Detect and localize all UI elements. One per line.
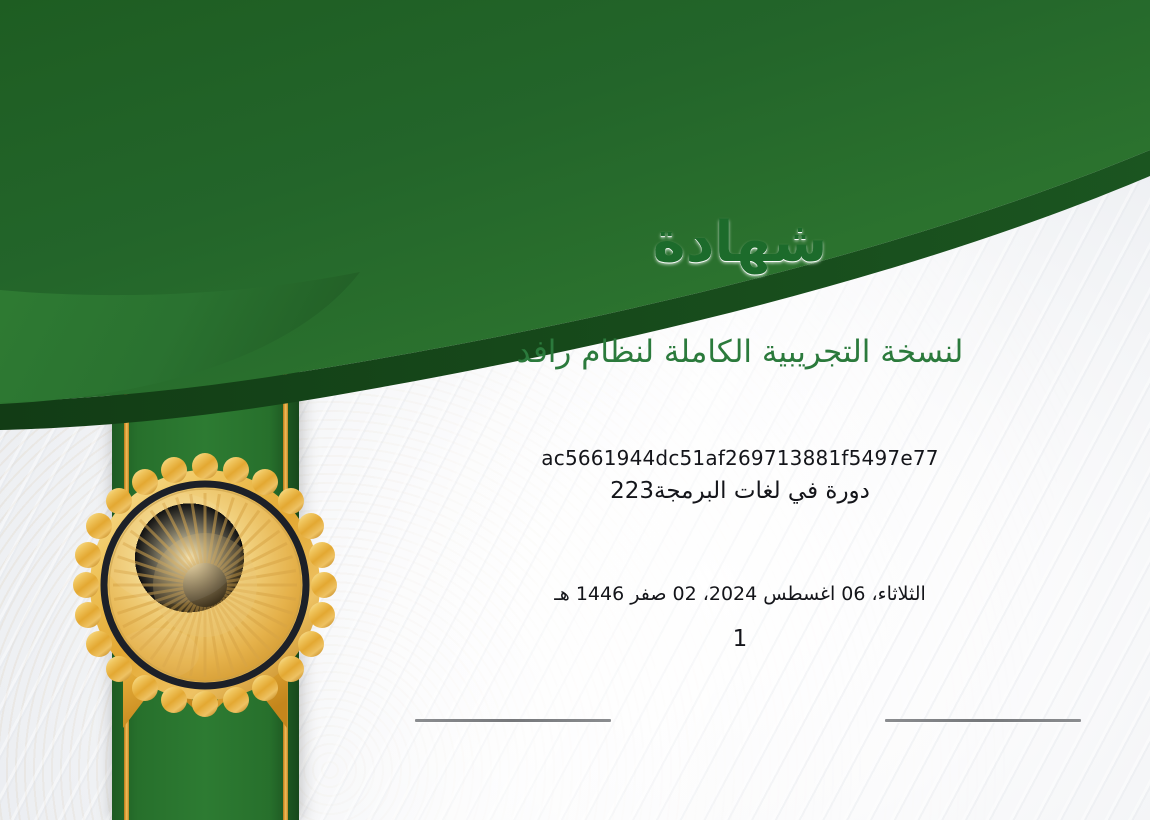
certificate-number: 1 bbox=[330, 626, 1150, 652]
certificate-hash: ac5661944dc51af269713881f5497e77 bbox=[330, 446, 1150, 470]
certificate-page: شهادة لنسخة التجريبية الكاملة لنظام رافد… bbox=[0, 0, 1150, 820]
certificate-subtitle: لنسخة التجريبية الكاملة لنظام رافد bbox=[330, 332, 1150, 372]
course-name: دورة في لغات البرمجة223 bbox=[330, 478, 1150, 504]
certificate-content: شهادة لنسخة التجريبية الكاملة لنظام رافد… bbox=[330, 0, 1150, 820]
signature-line-right bbox=[885, 719, 1081, 722]
award-medal-icon bbox=[65, 440, 345, 760]
issue-date: الثلاثاء، 06 اغسطس 2024، 02 صفر 1446 هـ bbox=[330, 583, 1150, 605]
page-title: شهادة bbox=[330, 214, 1150, 273]
signature-line-left bbox=[415, 719, 611, 722]
